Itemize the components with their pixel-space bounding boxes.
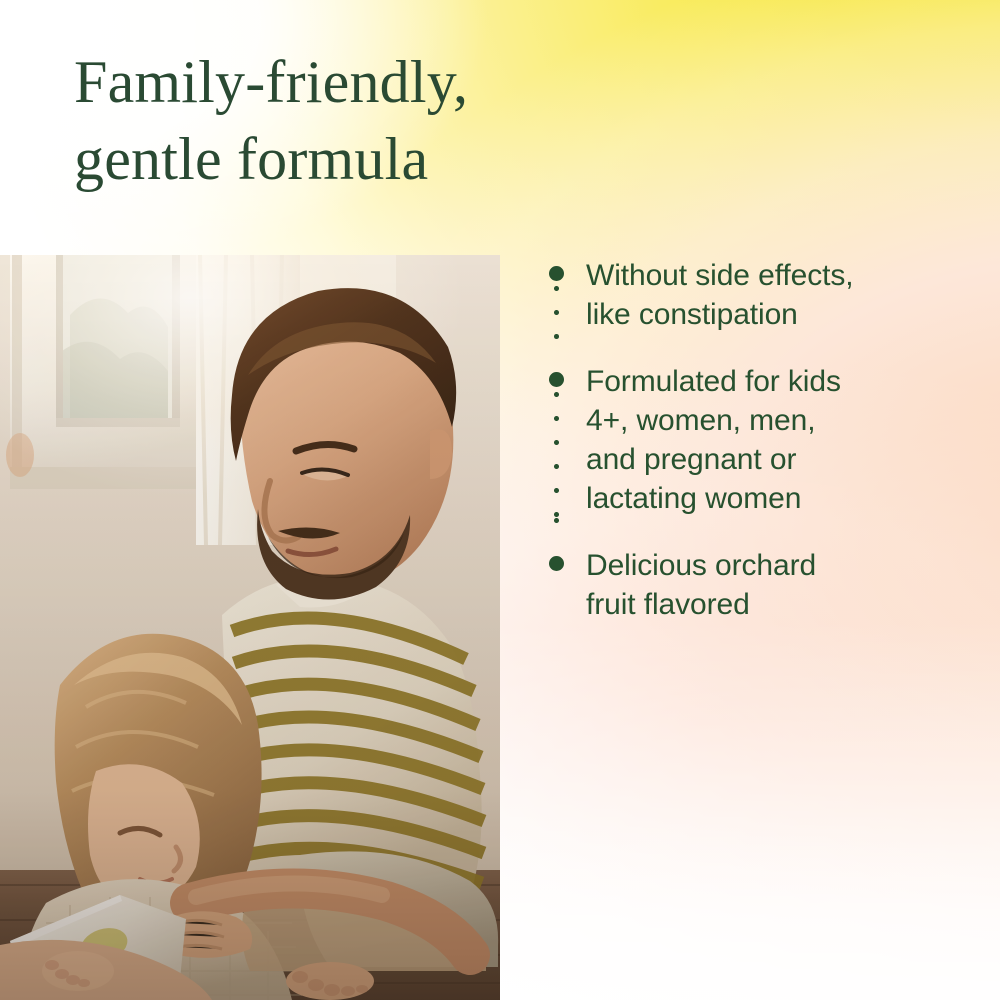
dotted-connector-icon bbox=[554, 518, 559, 542]
dotted-connector-icon bbox=[554, 334, 559, 358]
bullet-dot-icon bbox=[549, 266, 564, 281]
benefit-text: Delicious orchard fruit flavored bbox=[586, 542, 816, 624]
benefit-text: Formulated for kids 4+, women, men, and … bbox=[586, 358, 841, 518]
benefits-list: Without side effects, like constipation … bbox=[540, 252, 990, 624]
bullet-marker-column bbox=[540, 334, 586, 358]
benefit-item-3: Delicious orchard fruit flavored bbox=[540, 542, 990, 624]
page-title: Family-friendly, gentle formula bbox=[74, 44, 674, 198]
bullet-marker-column bbox=[540, 252, 586, 334]
bullet-marker-column bbox=[540, 518, 586, 542]
bullet-dot-icon bbox=[549, 372, 564, 387]
bullet-marker-column bbox=[540, 358, 586, 518]
benefit-spacer-2 bbox=[540, 518, 990, 542]
product-benefits-card: Family-friendly, gentle formula bbox=[0, 0, 1000, 1000]
dotted-connector-icon bbox=[554, 392, 559, 524]
benefit-spacer-1 bbox=[540, 334, 990, 358]
dotted-connector-icon bbox=[554, 286, 559, 340]
bullet-marker-column bbox=[540, 542, 586, 624]
bullet-dot-icon bbox=[549, 556, 564, 571]
benefit-text: Without side effects, like constipation bbox=[586, 252, 853, 334]
benefit-item-2: Formulated for kids 4+, women, men, and … bbox=[540, 358, 990, 518]
family-reading-photo bbox=[0, 255, 500, 1000]
benefit-item-1: Without side effects, like constipation bbox=[540, 252, 990, 334]
